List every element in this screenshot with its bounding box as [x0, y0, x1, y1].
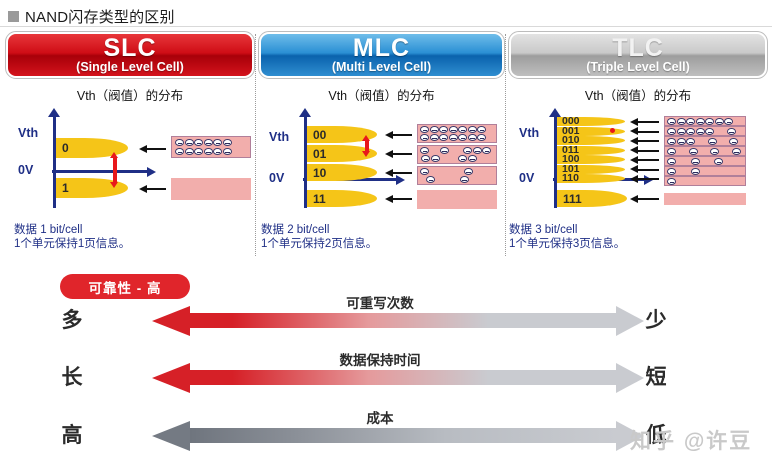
note-tlc: 数据 3 bit/cell 1个单元保持3页信息。 [509, 224, 625, 251]
level-label-slc-1: 1 [56, 182, 69, 194]
cell-block-mlc-11 [417, 190, 497, 209]
y-axis-label-mlc: Vth [269, 130, 289, 144]
cell-block-tlc-111 [664, 193, 746, 205]
pointer-arrow-mlc-01 [392, 153, 412, 155]
bar-body-rewrites [190, 313, 616, 328]
pointer-arrow-tlc-001 [637, 131, 659, 133]
bar-left-arrowhead-rewrites [152, 306, 190, 336]
note-tlc-line1: 数据 3 bit/cell [509, 224, 625, 238]
comparison-right-label-retention: 短 [634, 361, 678, 391]
panel-tlc: TLC (Triple Level Cell) Vth（阀值）的分布 Vth 0… [509, 32, 767, 258]
page-title: NAND闪存类型的区别 [25, 6, 175, 27]
pointer-arrow-mlc-10 [392, 172, 412, 174]
x-axis-slc [52, 170, 148, 173]
pointer-arrow-slc-0 [146, 148, 166, 150]
comparison-right-label-rewrites: 少 [634, 304, 678, 334]
note-mlc-line1: 数据 2 bit/cell [261, 224, 377, 238]
panel-title-mlc-abbr: MLC [353, 37, 410, 60]
origin-label-tlc: 0V [519, 171, 534, 185]
note-slc-line1: 数据 1 bit/cell [14, 224, 130, 238]
cell-block-tlc-101 [664, 166, 746, 176]
watermark: 知乎 @许豆 [630, 425, 752, 455]
panel-title-mlc-full: (Multi Level Cell) [332, 60, 431, 74]
pointer-arrow-tlc-100 [637, 159, 659, 161]
bar-body-cost [190, 428, 616, 443]
panel-title-tlc-full: (Triple Level Cell) [586, 60, 690, 74]
comparison-title-retention: 数据保持时间 [240, 349, 520, 369]
level-label-mlc-01: 01 [307, 148, 326, 160]
note-slc: 数据 1 bit/cell 1个单元保持1页信息。 [14, 224, 130, 251]
note-mlc-line2: 1个单元保持2页信息。 [261, 238, 377, 252]
level-label-mlc-10: 10 [307, 167, 326, 179]
y-axis-label-tlc: Vth [519, 126, 539, 140]
origin-label-slc: 0V [18, 163, 33, 177]
bar-left-arrowhead-cost [152, 421, 190, 451]
note-mlc: 数据 2 bit/cell 1个单元保持2页信息。 [261, 224, 377, 251]
reliability-badge: 可靠性 - 高 [60, 274, 190, 299]
comparison-row-rewrites: 可重写次数 多 少 [0, 300, 772, 346]
x-axis-arrowhead-mlc [396, 175, 405, 185]
chart-caption-tlc: Vth（阀值）的分布 [509, 85, 767, 104]
cell-block-tlc-100 [664, 156, 746, 166]
cell-block-tlc-011 [664, 146, 746, 156]
level-blob-mlc-11: 11 [307, 190, 377, 207]
square-bullet-icon [8, 11, 19, 22]
cell-block-tlc-110 [664, 176, 746, 186]
panel-title-mlc: MLC (Multi Level Cell) [259, 32, 504, 78]
comparison-left-label-retention: 长 [50, 361, 94, 391]
cell-block-slc-1 [171, 178, 251, 200]
chart-slc: Vth 0V 0 1 [6, 108, 254, 228]
panel-title-tlc: TLC (Triple Level Cell) [509, 32, 767, 78]
threshold-gap-marker-tlc [610, 128, 615, 133]
panel-title-slc-full: (Single Level Cell) [76, 60, 184, 74]
panel-title-slc: SLC (Single Level Cell) [6, 32, 254, 78]
comparison-left-label-rewrites: 多 [50, 304, 94, 334]
chart-caption-slc: Vth（阀值）的分布 [6, 85, 254, 104]
level-label-tlc-110: 110 [557, 173, 579, 184]
chart-tlc: Vth 0V 000 001 010 011 100 101 110 [509, 108, 767, 228]
cell-block-tlc-000 [664, 116, 746, 126]
comparison-title-cost: 成本 [240, 407, 520, 427]
header-divider [0, 26, 772, 27]
x-axis-arrowhead-slc [147, 167, 156, 177]
note-tlc-line2: 1个单元保持3页信息。 [509, 238, 625, 252]
cell-block-mlc-01 [417, 145, 497, 164]
origin-label-mlc: 0V [269, 171, 284, 185]
pointer-arrow-tlc-110 [637, 178, 659, 180]
level-label-slc-0: 0 [56, 142, 69, 154]
panel-title-slc-abbr: SLC [104, 37, 157, 60]
y-axis-label-slc: Vth [18, 126, 38, 140]
pointer-arrow-mlc-00 [392, 134, 412, 136]
cell-block-tlc-001 [664, 126, 746, 136]
pointer-arrow-mlc-11 [392, 198, 412, 200]
panel-slc: SLC (Single Level Cell) Vth（阀值）的分布 Vth 0… [6, 32, 254, 258]
bar-left-arrowhead-retention [152, 363, 190, 393]
threshold-gap-arrow-slc [110, 152, 119, 188]
chart-caption-mlc: Vth（阀值）的分布 [259, 85, 504, 104]
comparison-bar-retention [152, 370, 616, 385]
level-label-mlc-00: 00 [307, 129, 326, 141]
level-label-tlc-111: 111 [557, 193, 582, 205]
comparison-bar-cost [152, 428, 616, 443]
panel-title-tlc-abbr: TLC [612, 37, 664, 60]
cell-block-slc-0 [171, 136, 251, 158]
level-blob-tlc-110: 110 [557, 174, 625, 183]
pointer-arrow-tlc-010 [637, 140, 659, 142]
pointer-arrow-tlc-011 [637, 150, 659, 152]
cell-block-tlc-010 [664, 136, 746, 146]
cell-block-mlc-10 [417, 166, 497, 185]
bar-body-retention [190, 370, 616, 385]
pointer-arrow-slc-1 [146, 188, 166, 190]
comparison-row-retention: 数据保持时间 长 短 [0, 357, 772, 403]
panel-divider-2 [505, 34, 506, 256]
pointer-arrow-tlc-000 [637, 121, 659, 123]
pointer-arrow-tlc-111 [637, 198, 659, 200]
cell-block-mlc-00 [417, 124, 497, 143]
comparison-left-label-cost: 高 [50, 419, 94, 449]
panel-mlc: MLC (Multi Level Cell) Vth（阀值）的分布 Vth 0V… [259, 32, 504, 258]
threshold-gap-arrow-mlc [362, 135, 371, 157]
infographic-page: NAND闪存类型的区别 SLC (Single Level Cell) Vth（… [0, 0, 772, 476]
level-blob-tlc-111: 111 [557, 190, 627, 207]
level-label-mlc-11: 11 [307, 193, 326, 205]
note-slc-line2: 1个单元保持1页信息。 [14, 238, 130, 252]
page-header: NAND闪存类型的区别 [8, 6, 175, 27]
comparison-title-rewrites: 可重写次数 [240, 292, 520, 312]
comparison-bar-rewrites [152, 313, 616, 328]
panel-divider-1 [255, 34, 256, 256]
chart-mlc: Vth 0V 00 01 10 11 [259, 108, 504, 228]
pointer-arrow-tlc-101 [637, 169, 659, 171]
